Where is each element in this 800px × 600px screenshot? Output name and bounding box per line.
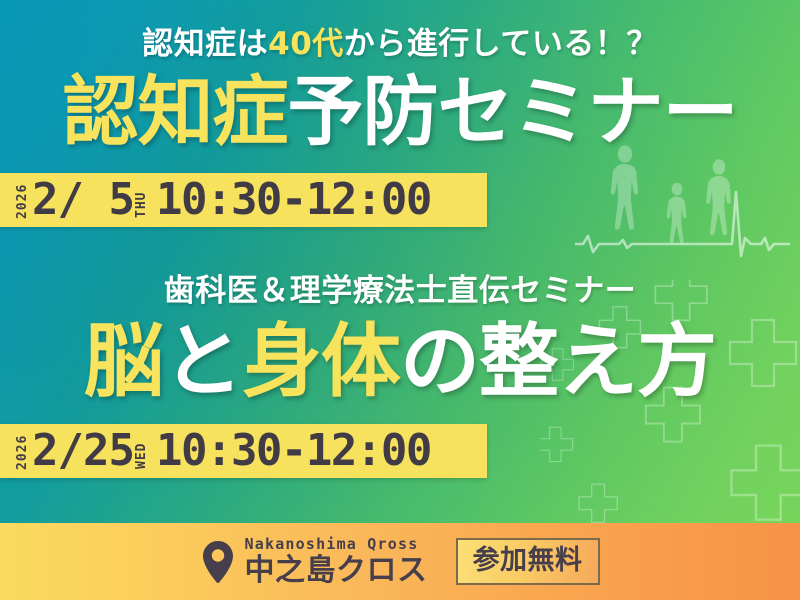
- kicker-headline: 認知症は40代から進行している！？: [0, 18, 800, 63]
- venue-text: Nakanoshima Qross 中之島クロス: [245, 537, 428, 586]
- session-1-time: 10:30-12:00: [156, 178, 431, 222]
- title-2-rest: の整え方: [400, 315, 716, 408]
- venue-name-en: Nakanoshima Qross: [245, 537, 428, 552]
- location-pin-icon: [201, 540, 235, 584]
- title-1-rest: 予防セミナー: [288, 67, 738, 156]
- title-2-accent-2: 身体: [242, 315, 400, 408]
- session-2-date-badge: 2026 2/25 WED 10:30-12:00: [0, 424, 487, 478]
- venue-block: Nakanoshima Qross 中之島クロス: [201, 537, 428, 586]
- session-2-day-of-week: WED: [135, 433, 148, 469]
- free-admission-badge: 参加無料: [456, 538, 600, 585]
- title-2-mid: と: [163, 315, 242, 408]
- session-2-year: 2026: [16, 432, 29, 470]
- session-2-month-day: 2/25: [32, 429, 134, 473]
- session-1-day-of-week: THU: [135, 182, 148, 218]
- footer-bar: Nakanoshima Qross 中之島クロス 参加無料: [0, 523, 800, 600]
- venue-name-jp: 中之島クロス: [245, 556, 428, 586]
- session-1-date-badge: 2026 2/ 5 THU 10:30-12:00: [0, 173, 487, 227]
- kicker-highlight: 40代: [268, 26, 344, 62]
- banner-content: 認知症は40代から進行している！？ 認知症予防セミナー 2026 2/ 5 TH…: [0, 0, 800, 600]
- title-2-accent-1: 脳: [84, 315, 163, 408]
- seminar-banner: 認知症は40代から進行している！？ 認知症予防セミナー 2026 2/ 5 TH…: [0, 0, 800, 600]
- kicker-headline-secondary: 歯科医＆理学療法士直伝セミナー: [0, 265, 800, 310]
- session-2-time: 10:30-12:00: [156, 429, 431, 473]
- page-title-primary: 認知症予防セミナー: [0, 74, 800, 150]
- title-1-accent: 認知症: [63, 67, 288, 156]
- session-1-year: 2026: [16, 181, 29, 219]
- page-title-secondary: 脳と身体の整え方: [0, 322, 800, 402]
- kicker-post: から進行している！？: [344, 26, 658, 62]
- session-1-month-day: 2/ 5: [32, 178, 134, 222]
- kicker-pre: 認知症は: [142, 26, 268, 62]
